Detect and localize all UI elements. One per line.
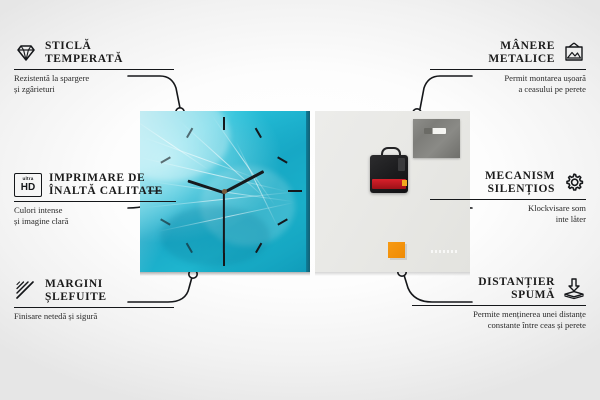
metal-hanger-plate [413, 119, 460, 158]
callout-divider [14, 307, 174, 308]
ultra-hd-badge-icon: ultra HD [14, 173, 42, 197]
callout-tempered-glass: STICLĂ TEMPERATĂ Rezistentă la spargere … [14, 40, 174, 94]
callout-desc-line1: Klockvisare som [430, 203, 586, 213]
callout-desc-line1: Permite menținerea unei distanțe [412, 309, 586, 319]
battery-label [431, 250, 457, 253]
callout-header: STICLĂ TEMPERATĂ [14, 40, 174, 66]
callout-title-line2: ȘLEFUITE [45, 291, 107, 304]
callout-printing: ultra HD IMPRIMARE DE ÎNALTĂ CALITATE Cu… [14, 172, 176, 226]
callout-desc-line2: constante între ceas și perete [412, 320, 586, 330]
callout-polished-edges: MARGINI ȘLEFUITE Finisare netedă și sigu… [14, 278, 174, 322]
callout-header: MÂNERE METALICE [430, 40, 586, 66]
callout-header: DISTANȚIER SPUMĂ [412, 276, 586, 302]
battery [372, 179, 406, 189]
callout-desc-line1: Permit montarea ușoară [430, 73, 586, 83]
callout-title-line1: IMPRIMARE DE [49, 172, 163, 185]
clock-tick [288, 190, 302, 192]
product-image [140, 111, 470, 272]
callout-title-line1: DISTANȚIER [478, 276, 555, 289]
clock-tick [255, 128, 262, 138]
callout-divider [412, 305, 586, 306]
clock-center-hub [222, 189, 227, 194]
callout-divider [14, 69, 174, 70]
mechanism-knob [398, 158, 405, 171]
diamond-icon [14, 41, 38, 65]
clock-tick [223, 253, 225, 266]
callout-desc-line1: Finisare netedă și sigură [14, 311, 174, 321]
callout-desc-line1: Culori intense [14, 205, 176, 215]
clock-drop-shadow [140, 272, 310, 276]
callout-title-line1: MECANISM [485, 170, 555, 183]
callout-silent-mechanism: MECANISM SILENȚIOS Klockvisare som inte … [430, 170, 586, 224]
gear-icon [562, 171, 586, 195]
callout-divider [430, 69, 586, 70]
callout-title-line2: METALICE [488, 53, 555, 66]
infographic-canvas: STICLĂ TEMPERATĂ Rezistentă la spargere … [0, 0, 600, 400]
callout-title-line1: MARGINI [45, 278, 107, 291]
callout-divider [14, 201, 176, 202]
callout-metal-handles: MÂNERE METALICE Permit montarea ușoară a… [430, 40, 586, 94]
callout-header: MECANISM SILENȚIOS [430, 170, 586, 196]
callout-foam-spacer: DISTANȚIER SPUMĂ Permite menținerea unei… [412, 276, 586, 330]
callout-desc-line2: inte låter [430, 214, 586, 224]
callout-divider [430, 199, 586, 200]
glass-edge [306, 111, 310, 272]
polished-edges-icon [14, 279, 38, 303]
foam-spacer-arrow-icon [562, 277, 586, 301]
callout-desc-line2: a ceasului pe perete [430, 84, 586, 94]
clock-second-hand [223, 192, 225, 254]
hanger-slot [424, 128, 446, 134]
battery-terminal [402, 180, 407, 186]
badge-main-label: HD [21, 183, 35, 193]
foam-spacer-pad [388, 242, 405, 258]
callout-title-line2: SILENȚIOS [485, 183, 555, 196]
callout-title-line1: STICLĂ [45, 40, 123, 53]
callout-header: ultra HD IMPRIMARE DE ÎNALTĂ CALITATE [14, 172, 176, 198]
callout-desc-line2: și zgârieturi [14, 84, 174, 94]
callout-title-line2: ÎNALTĂ CALITATE [49, 185, 163, 198]
callout-title-line2: TEMPERATĂ [45, 53, 123, 66]
callout-title-line2: SPUMĂ [478, 289, 555, 302]
clock-tick [277, 156, 287, 163]
callout-desc-line2: și imagine clară [14, 216, 176, 226]
callout-title-line1: MÂNERE [488, 40, 555, 53]
callout-desc-line1: Rezistentă la spargere [14, 73, 174, 83]
clock-tick [223, 117, 225, 130]
picture-hanger-icon [562, 41, 586, 65]
callout-header: MARGINI ȘLEFUITE [14, 278, 174, 304]
